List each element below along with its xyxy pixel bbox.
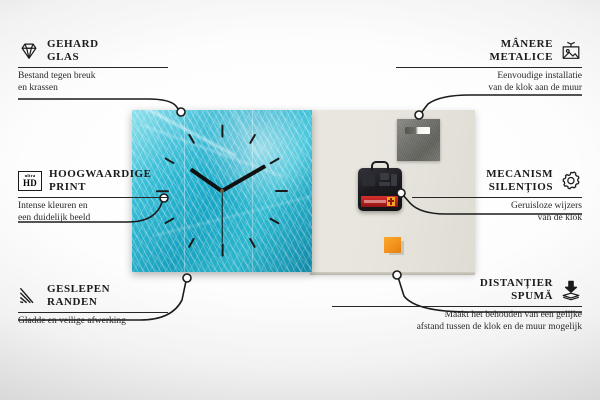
callout-desc-line2: afstand tussen de klok en de muur mogeli…: [332, 322, 582, 334]
callout-rule: [18, 67, 168, 68]
callout-title-line1: HOOGWAARDIGE: [49, 168, 152, 181]
callout-desc-line2: en krassen: [18, 83, 168, 95]
spacer-arrow-icon: [560, 279, 582, 301]
ultra-hd-icon: ultra HD: [18, 171, 42, 191]
clock-second-hand: [221, 191, 222, 243]
mechanism-detail: [362, 173, 398, 193]
callout-title-line2: PRINT: [49, 181, 152, 194]
diamond-icon: [18, 40, 40, 62]
callout-mecanism-silentios: MECANISM SILENȚIOS Geruisloze wijzers va…: [412, 168, 582, 224]
clock-hub: [220, 189, 224, 193]
callout-desc-line2: van de klok: [412, 213, 582, 225]
clock-tick: [275, 190, 288, 192]
mechanism-hanger-loop: [371, 161, 389, 171]
hanger-slot: [405, 127, 430, 134]
infographic-canvas: GEHARD GLAS Bestand tegen breuk en krass…: [0, 0, 600, 400]
callout-desc-line1: Gladde en veilige afwerking: [18, 316, 168, 328]
callout-manere-metalice: MÂNERE METALICE Eenvoudige installatie v…: [396, 38, 582, 94]
gear-icon: [560, 170, 582, 192]
callout-desc-line1: Intense kleuren en: [18, 201, 168, 213]
clock-tick: [221, 125, 223, 138]
callout-desc-line1: Maakt het behouden van een gelijke: [332, 310, 582, 322]
callout-rule: [18, 197, 168, 198]
callout-title-line2: SPUMĂ: [480, 290, 553, 303]
callout-hoogwaardige-print: ultra HD HOOGWAARDIGE PRINT Intense kleu…: [18, 168, 168, 224]
callout-rule: [396, 67, 582, 68]
callout-title-line1: DISTANȚIER: [480, 277, 553, 290]
callout-desc-line2: van de klok aan de muur: [396, 83, 582, 95]
callout-rule: [332, 306, 582, 307]
foam-spacer: [384, 237, 401, 253]
callout-title-line2: SILENȚIOS: [486, 181, 553, 194]
battery-positive-terminal: [387, 197, 395, 206]
callout-geslepen-randen: GESLEPEN RANDEN Gladde en veilige afwerk…: [18, 283, 168, 328]
callout-title-line1: MÂNERE: [490, 38, 553, 51]
aa-battery: [361, 196, 398, 207]
metal-hanger-plate: [397, 119, 440, 161]
clock-mechanism: [358, 168, 402, 211]
callout-rule: [412, 197, 582, 198]
callout-title-line2: RANDEN: [47, 296, 110, 309]
callout-desc-line2: een duidelijk beeld: [18, 213, 168, 225]
ultra-hd-icon-bottom: HD: [23, 179, 37, 188]
bevelled-edges-icon: [18, 285, 40, 307]
callout-title-line1: MECANISM: [486, 168, 553, 181]
callout-rule: [18, 312, 168, 313]
picture-hanger-icon: [560, 40, 582, 62]
callout-gehard-glas: GEHARD GLAS Bestand tegen breuk en krass…: [18, 38, 168, 94]
callout-title-line2: GLAS: [47, 51, 99, 64]
clock-tick: [221, 244, 223, 257]
callout-desc-line1: Bestand tegen breuk: [18, 71, 168, 83]
callout-desc-line1: Geruisloze wijzers: [412, 201, 582, 213]
callout-desc-line1: Eenvoudige installatie: [396, 71, 582, 83]
callout-distantier-spuma: DISTANȚIER SPUMĂ Maakt het behouden van …: [332, 277, 582, 333]
callout-title-line1: GEHARD: [47, 38, 99, 51]
callout-title-line2: METALICE: [490, 51, 553, 64]
callout-title-line1: GESLEPEN: [47, 283, 110, 296]
